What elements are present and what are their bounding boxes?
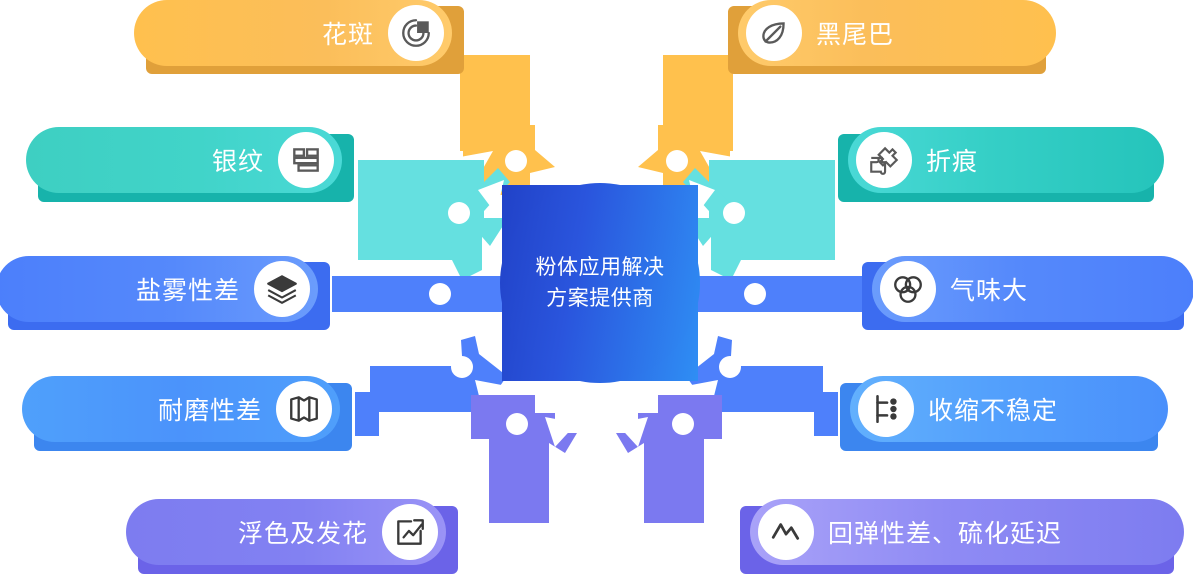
node-huitan-label: 回弹性差、硫化延迟 xyxy=(828,514,1062,550)
recycle-icon xyxy=(880,261,936,317)
layers-icon xyxy=(254,261,310,317)
connector-qiweida xyxy=(683,276,863,312)
node-yanwuxingcha[interactable]: 盐雾性差 xyxy=(0,256,330,332)
node-heiweiba-label: 黑尾巴 xyxy=(816,15,894,51)
node-yanwuxingcha-label: 盐雾性差 xyxy=(136,271,240,307)
node-shousuo-pill[interactable]: 收缩不稳定 xyxy=(850,376,1168,442)
node-naimoxingcha-label: 耐磨性差 xyxy=(158,391,262,427)
sitemap-icon xyxy=(858,381,914,437)
node-zhehen-pill[interactable]: 折痕 xyxy=(848,127,1164,193)
connector-dot-shousuo xyxy=(719,356,741,378)
node-yinwen[interactable]: 银纹 xyxy=(26,127,354,205)
node-huaban-label: 花斑 xyxy=(322,15,374,51)
node-fuse[interactable]: 浮色及发花 xyxy=(126,499,458,577)
node-huaban[interactable]: 花斑 xyxy=(134,0,464,76)
node-shousuo[interactable]: 收缩不稳定 xyxy=(840,376,1170,454)
connector-fuse xyxy=(465,395,595,530)
node-shousuo-label: 收缩不稳定 xyxy=(928,391,1058,427)
connector-dot-qiweida xyxy=(744,283,766,305)
puzzle-icon xyxy=(856,132,912,188)
node-yinwen-pill[interactable]: 银纹 xyxy=(26,127,342,193)
node-huitan-pill[interactable]: 回弹性差、硫化延迟 xyxy=(750,499,1184,565)
node-naimoxingcha-pill[interactable]: 耐磨性差 xyxy=(22,376,340,442)
node-zhehen[interactable]: 折痕 xyxy=(838,127,1166,205)
connector-dot-naimoxingcha xyxy=(451,356,473,378)
node-naimoxingcha[interactable]: 耐磨性差 xyxy=(22,376,352,454)
brick-wall-icon xyxy=(278,132,334,188)
connector-yinwen xyxy=(358,160,518,280)
node-yanwuxingcha-pill[interactable]: 盐雾性差 xyxy=(0,256,318,322)
node-zhehen-label: 折痕 xyxy=(926,142,978,178)
node-fuse-label: 浮色及发花 xyxy=(238,514,368,550)
center-node[interactable]: 粉体应用解决 方案提供商 xyxy=(502,185,698,381)
connector-yanwuxingcha xyxy=(332,276,512,312)
node-qiweida[interactable]: 气味大 xyxy=(862,256,1193,332)
open-book-icon xyxy=(276,381,332,437)
connector-huitan xyxy=(598,395,728,530)
connector-dot-yinwen xyxy=(448,202,470,224)
node-qiweida-label: 气味大 xyxy=(950,271,1028,307)
node-yinwen-label: 银纹 xyxy=(212,142,264,178)
connector-dot-huitan xyxy=(672,413,694,435)
node-huaban-pill[interactable]: 花斑 xyxy=(134,0,452,66)
infographic-canvas: 粉体应用解决 方案提供商 花斑 银纹 xyxy=(0,0,1193,577)
connector-zhehen xyxy=(675,160,835,280)
center-node-label: 粉体应用解决 方案提供商 xyxy=(536,252,665,314)
node-huitan[interactable]: 回弹性差、硫化延迟 xyxy=(740,499,1186,577)
node-fuse-pill[interactable]: 浮色及发花 xyxy=(126,499,446,565)
node-heiweiba[interactable]: 黑尾巴 xyxy=(728,0,1058,76)
pie-chart-icon xyxy=(388,5,444,61)
connector-dot-fuse xyxy=(506,413,528,435)
chart-arrow-icon xyxy=(382,504,438,560)
line-chart-icon xyxy=(758,504,814,560)
node-qiweida-pill[interactable]: 气味大 xyxy=(872,256,1193,322)
connector-dot-zhehen xyxy=(723,202,745,224)
leaf-icon xyxy=(746,5,802,61)
node-heiweiba-pill[interactable]: 黑尾巴 xyxy=(738,0,1056,66)
connector-dot-yanwuxingcha xyxy=(429,283,451,305)
